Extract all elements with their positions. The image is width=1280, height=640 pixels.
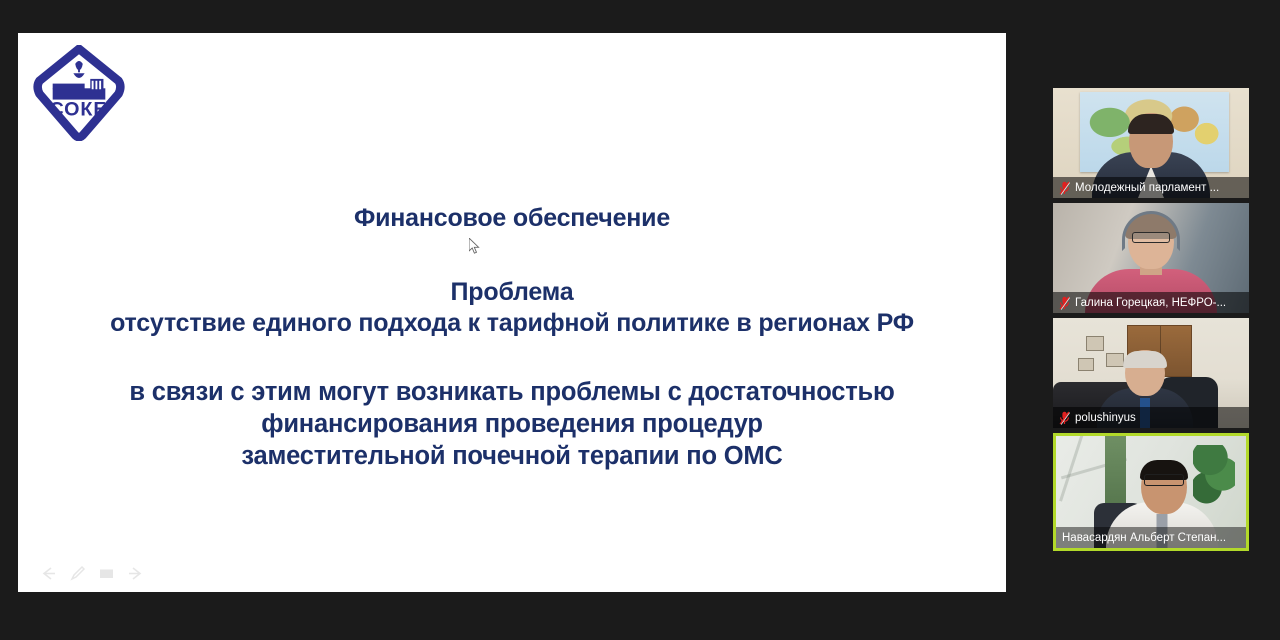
spacer: [18, 235, 1006, 277]
slide-title: Финансовое обеспечение: [18, 203, 1006, 235]
participant-nameplate: Навасардян Альберт Степан...: [1056, 527, 1246, 548]
participant-name: polushinyus: [1075, 412, 1136, 424]
participant-nameplate: polushinyus: [1053, 407, 1249, 428]
presenter-toolbar[interactable]: [40, 565, 144, 582]
pen-annotate-icon[interactable]: [69, 565, 86, 582]
slide-text-block: Финансовое обеспечение Проблема отсутств…: [18, 203, 1006, 472]
slide-body-line-1: в связи с этим могут возникать проблемы …: [18, 376, 1006, 408]
slide-problem-line: отсутствие единого подхода к тарифной по…: [18, 308, 1006, 340]
slide-subtitle: Проблема: [18, 277, 1006, 309]
spacer: [18, 340, 1006, 376]
participant-tile[interactable]: Галина Горецкая, НЕФРО-...: [1053, 203, 1249, 313]
previous-slide-icon[interactable]: [40, 565, 57, 582]
slide-body-line-2: финансирования проведения процедур: [18, 408, 1006, 440]
participant-tile-active-speaker[interactable]: Навасардян Альберт Степан...: [1053, 433, 1249, 551]
participant-name: Навасардян Альберт Степан...: [1062, 532, 1226, 544]
participant-tile[interactable]: Молодежный парламент ...: [1053, 88, 1249, 198]
participant-nameplate: Галина Горецкая, НЕФРО-...: [1053, 292, 1249, 313]
video-conference-window: СОКБ Финансовое обеспечение Проблема отс…: [0, 0, 1280, 640]
next-slide-icon[interactable]: [127, 565, 144, 582]
svg-text:СОКБ: СОКБ: [49, 99, 108, 121]
participant-name: Молодежный парламент ...: [1075, 182, 1219, 194]
sokb-hospital-logo-icon: СОКБ: [32, 45, 126, 141]
mic-muted-icon: [1059, 296, 1070, 310]
shared-screen-slide[interactable]: СОКБ Финансовое обеспечение Проблема отс…: [18, 33, 1006, 592]
participant-tile[interactable]: polushinyus: [1053, 318, 1249, 428]
all-slides-icon[interactable]: [98, 565, 115, 582]
mic-muted-icon: [1059, 411, 1070, 425]
participant-name: Галина Горецкая, НЕФРО-...: [1075, 297, 1226, 309]
participant-nameplate: Молодежный парламент ...: [1053, 177, 1249, 198]
slide-body-line-3: заместительной почечной терапии по ОМС: [18, 440, 1006, 472]
participant-filmstrip[interactable]: Молодежный парламент ...: [1053, 88, 1249, 556]
mic-muted-icon: [1059, 181, 1070, 195]
